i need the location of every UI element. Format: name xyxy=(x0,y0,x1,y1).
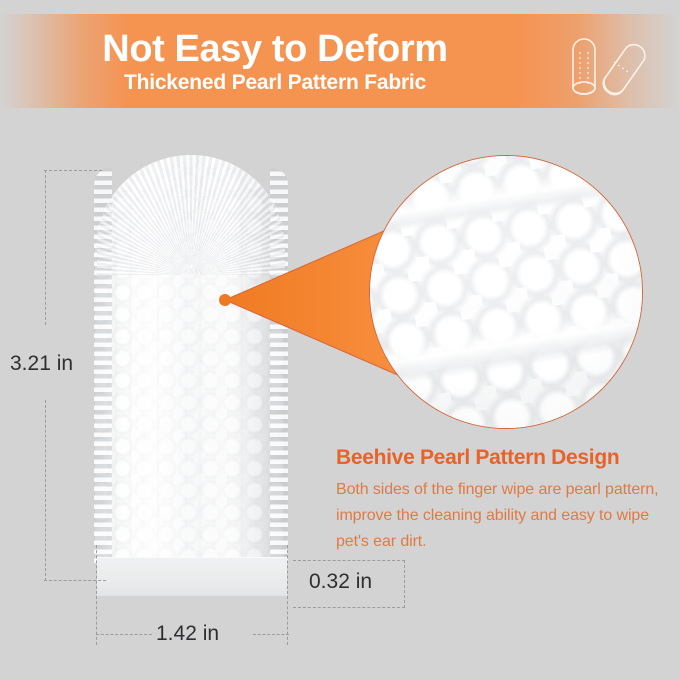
product-cuff-band xyxy=(97,557,287,596)
magnifier-anchor-dot xyxy=(219,294,231,306)
closeup-vignette xyxy=(370,156,642,428)
product-finger-wipe xyxy=(95,155,287,592)
thickness-guide-tick-right xyxy=(404,560,405,608)
finger-wipe-pair-icon xyxy=(556,36,660,100)
height-guide-line-lower xyxy=(45,400,46,581)
width-guide-tick-right xyxy=(253,634,289,635)
callout-body-line-2: improve the cleaning ability and easy to… xyxy=(336,503,666,529)
callout-body-line-1: Both sides of the finger wipe are pearl … xyxy=(336,477,666,503)
callout-body-line-3: pet's ear dirt. xyxy=(336,529,666,555)
banner-subtitle: Thickened Pearl Pattern Fabric xyxy=(124,72,426,93)
height-guide-top-tick xyxy=(44,170,102,171)
width-guide-tick-left xyxy=(96,634,152,635)
header-banner: Not Easy to Deform Thickened Pearl Patte… xyxy=(0,14,679,108)
product-infographic: Not Easy to Deform Thickened Pearl Patte… xyxy=(0,0,679,679)
height-guide-line-upper xyxy=(45,170,46,325)
dimension-label-width: 1.42 in xyxy=(156,622,219,646)
callout-heading: Beehive Pearl Pattern Design xyxy=(336,446,666,469)
width-guide-line-left xyxy=(96,545,97,645)
callout-block: Beehive Pearl Pattern Design Both sides … xyxy=(336,446,666,555)
pearl-pattern-closeup xyxy=(369,155,643,429)
dimension-label-height: 3.21 in xyxy=(10,352,73,376)
dimension-label-thickness: 0.32 in xyxy=(309,570,372,594)
banner-title: Not Easy to Deform xyxy=(102,30,447,68)
product-serrated-edge-top xyxy=(97,155,285,275)
banner-text-block: Not Easy to Deform Thickened Pearl Patte… xyxy=(0,14,550,108)
width-guide-line-right xyxy=(287,545,288,645)
thickness-guide-line-top xyxy=(293,560,405,561)
thickness-guide-line-bottom xyxy=(293,607,405,608)
